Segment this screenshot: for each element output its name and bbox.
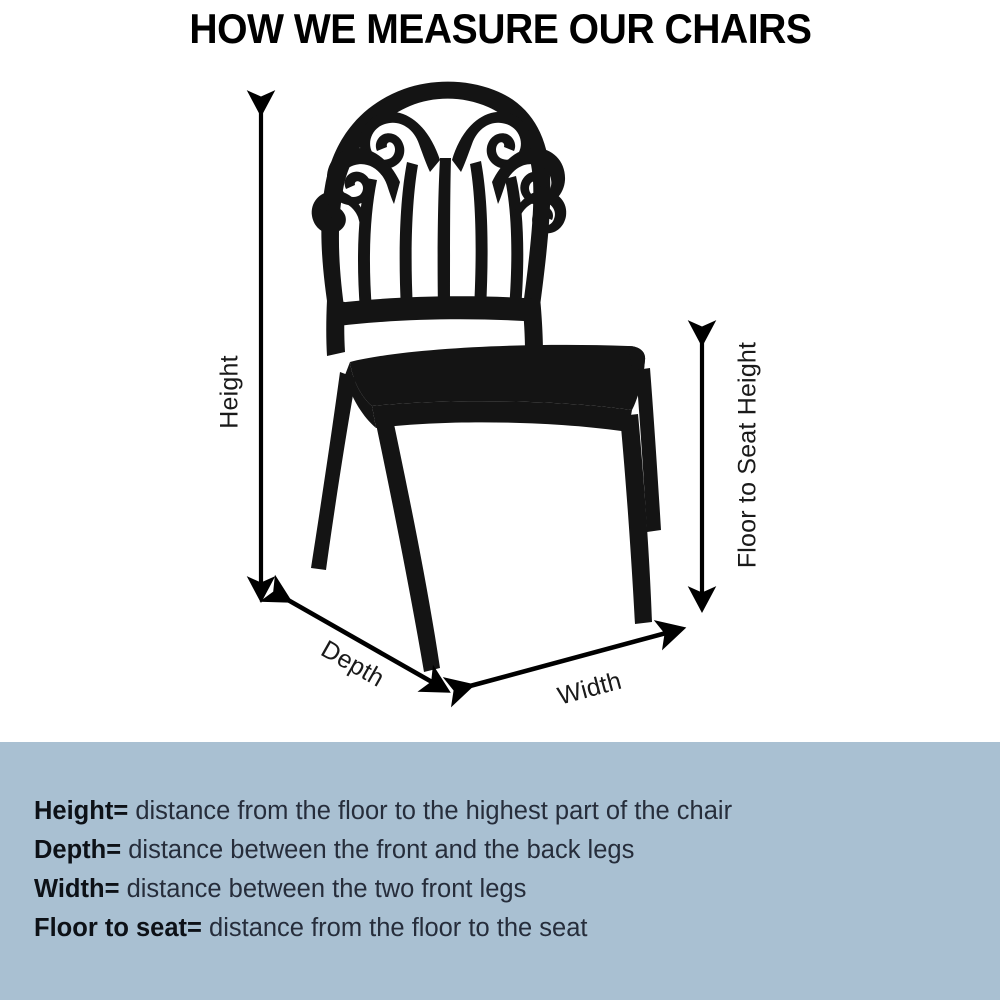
chair-back-rail [329,296,540,327]
width-label: Width [555,667,625,711]
legend-row: Floor to seat= distance from the floor t… [34,909,1000,948]
chair-slat-2 [400,162,418,310]
floor-to-seat-height-label: Floor to Seat Height [734,342,762,568]
legend-term: Depth [34,836,106,864]
legend-equals: = [105,875,120,903]
title-bar: HOW WE MEASURE OUR CHAIRS [0,0,1000,58]
legend-equals: = [106,836,121,864]
chair-leg-back-left [311,372,356,570]
height-label: Height [216,355,244,428]
chair-back-post-right [522,297,543,352]
depth-label: Depth [316,635,389,693]
legend-definition: distance between the front and the back … [128,836,634,864]
infographic-root: HOW WE MEASURE OUR CHAIRS [0,0,1000,1000]
chair-back-post-left [326,300,345,356]
legend-definition: distance from the floor to the highest p… [135,797,732,825]
chair-leg-front-left [376,424,440,672]
legend-equals: = [187,914,202,942]
chair-seat-top [350,345,645,410]
chair-diagram-svg: Height Floor to Seat Height Depth Width [0,58,1000,742]
page-title: HOW WE MEASURE OUR CHAIRS [189,8,811,50]
legend-row: Width= distance between the two front le… [34,870,1000,909]
legend-equals: = [113,797,128,825]
legend-row: Height= distance from the floor to the h… [34,792,1000,831]
chair-slat-5 [505,176,523,310]
chair-seat-apron [372,401,632,432]
legend-definition: distance between the two front legs [127,875,527,903]
legend-row: Depth= distance between the front and th… [34,831,1000,870]
chair-illustration [311,82,661,672]
chair-slat-4 [470,161,488,310]
legend-term: Floor to seat [34,914,187,942]
dimension-floor-to-seat-height: Floor to Seat Height [702,342,762,608]
legend-term: Height [34,797,113,825]
legend-panel: Height= distance from the floor to the h… [0,742,1000,1000]
chair-diagram: Height Floor to Seat Height Depth Width [0,58,1000,742]
dimension-width: Width [470,629,681,711]
chair-slat-3 [438,158,451,310]
legend-term: Width [34,875,105,903]
legend-definition: distance from the floor to the seat [209,914,587,942]
dimension-height: Height [216,112,261,598]
